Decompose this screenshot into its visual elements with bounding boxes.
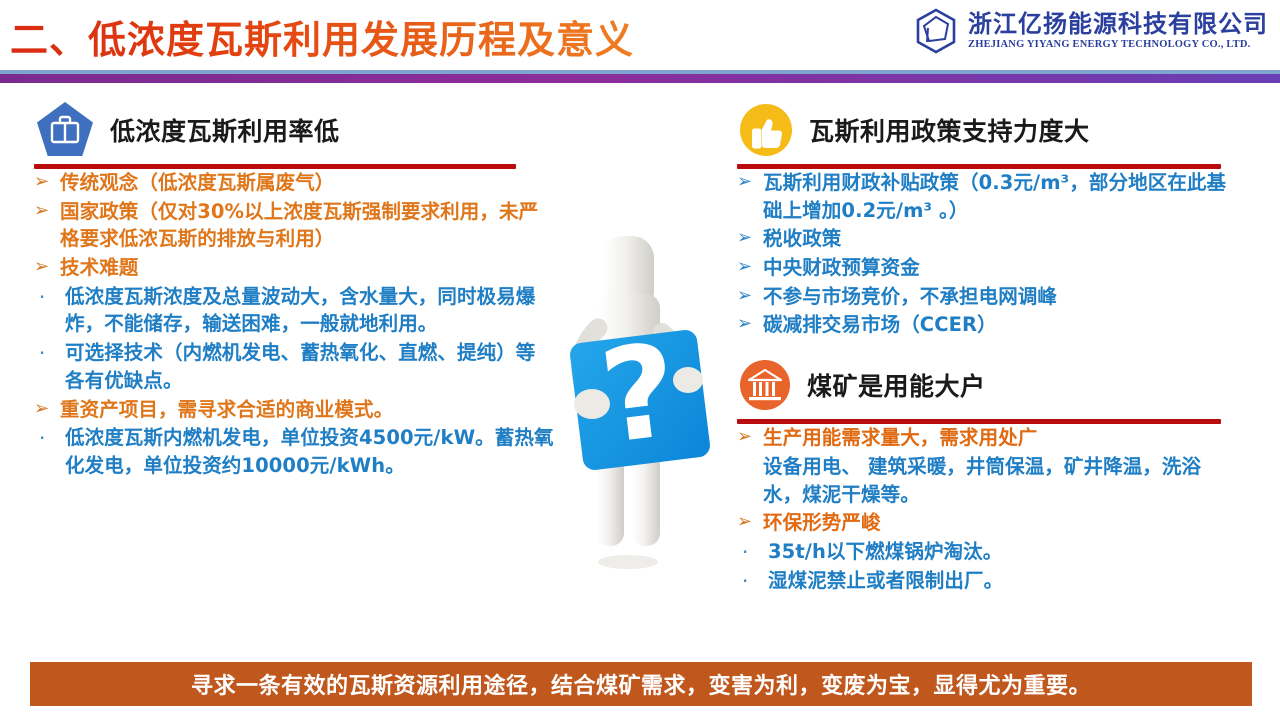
arrow-bullet-icon: ➢ (737, 169, 763, 195)
list-item-text: 低浓度瓦斯内燃机发电，单位投资4500元/kW。蓄热氧化发电，单位投资约1000… (65, 424, 554, 479)
list-item: ➢ 环保形势严峻 (737, 509, 1237, 537)
dot-bullet-icon: · (34, 424, 65, 452)
dot-bullet-icon: · (34, 339, 65, 367)
list-item: ➢ 重资产项目，需寻求合适的商业模式。 (34, 396, 554, 424)
left-bullet-list: ➢ 传统观念（低浓度瓦斯属废气） ➢ 国家政策（仅对30%以上浓度瓦斯强制要求利… (34, 169, 554, 480)
company-name-en: ZHEJIANG YIYANG ENERGY TECHNOLOGY CO., L… (968, 40, 1268, 51)
list-item-text: 环保形势严峻 (763, 509, 881, 537)
left-section-header: 低浓度瓦斯利用率低 (34, 98, 554, 162)
list-item: ➢ 中央财政预算资金 (737, 254, 1237, 282)
right-section-2-header: 煤矿是用能大户 (737, 353, 1237, 417)
right-column: 瓦斯利用政策支持力度大 ➢ 瓦斯利用财政补贴政策（0.3元/m³，部分地区在此基… (737, 98, 1237, 597)
footer-banner-text: 寻求一条有效的瓦斯资源利用途径，结合煤矿需求，变害为利，变废为宝，显得尤为重要。 (191, 668, 1091, 700)
right-bullet-list-1: ➢ 瓦斯利用财政补贴政策（0.3元/m³，部分地区在此基础上增加0.2元/m³ … (737, 169, 1237, 339)
right-bullet-list-2: ➢ 生产用能需求量大，需求用处广 设备用电、 建筑采暖，井筒保温，矿井降温，洗浴… (737, 424, 1237, 596)
thumbs-up-icon (737, 101, 795, 159)
arrow-bullet-icon: ➢ (737, 311, 763, 337)
slide: 二、低浓度瓦斯利用发展历程及意义 浙江亿扬能源科技有限公司 ZHEJIANG Y… (0, 0, 1280, 720)
bank-building-icon (737, 357, 793, 413)
arrow-bullet-icon: ➢ (737, 509, 763, 535)
list-item: ➢ 生产用能需求量大，需求用处广 (737, 424, 1237, 452)
arrow-bullet-icon: ➢ (737, 225, 763, 251)
dot-bullet-icon: · (34, 283, 65, 311)
list-item: · 可选择技术（内燃机发电、蓄热氧化、直燃、提纯）等各有优缺点。 (34, 339, 554, 394)
list-item-text: 可选择技术（内燃机发电、蓄热氧化、直燃、提纯）等各有优缺点。 (65, 339, 554, 394)
right-section-1-header: 瓦斯利用政策支持力度大 (737, 98, 1237, 162)
right-section-2-title: 煤矿是用能大户 (807, 367, 986, 403)
left-column: 低浓度瓦斯利用率低 ➢ 传统观念（低浓度瓦斯属废气） ➢ 国家政策（仅对30%以… (34, 98, 554, 481)
list-item-text: 中央财政预算资金 (763, 254, 920, 282)
arrow-bullet-icon: ➢ (737, 283, 763, 309)
list-item-text: 税收政策 (763, 225, 841, 253)
list-item: ➢ 瓦斯利用财政补贴政策（0.3元/m³，部分地区在此基础上增加0.2元/m³ … (737, 169, 1237, 224)
company-name-cn: 浙江亿扬能源科技有限公司 (968, 12, 1268, 36)
dot-bullet-icon: · (737, 538, 768, 566)
dot-bullet-icon: · (737, 567, 768, 595)
briefcase-pentagon-icon (34, 99, 96, 161)
right-section-1-title: 瓦斯利用政策支持力度大 (809, 112, 1090, 148)
arrow-bullet-icon: ➢ (737, 254, 763, 280)
list-item-text: 重资产项目，需寻求合适的商业模式。 (60, 396, 393, 424)
list-item-text: 国家政策（仅对30%以上浓度瓦斯强制要求利用，未严格要求低浓瓦斯的排放与利用） (60, 198, 554, 253)
list-item: ➢ 国家政策（仅对30%以上浓度瓦斯强制要求利用，未严格要求低浓瓦斯的排放与利用… (34, 198, 554, 253)
list-item: ➢ 碳减排交易市场（CCER） (737, 311, 1237, 339)
list-item-text: 瓦斯利用财政补贴政策（0.3元/m³，部分地区在此基础上增加0.2元/m³ 。） (763, 169, 1237, 224)
list-item: · 35t/h以下燃煤锅炉淘汰。 (737, 538, 1237, 566)
list-item-text: 技术难题 (60, 254, 138, 282)
list-item-text: 35t/h以下燃煤锅炉淘汰。 (768, 538, 1002, 566)
footer-banner: 寻求一条有效的瓦斯资源利用途径，结合煤矿需求，变害为利，变废为宝，显得尤为重要。 (30, 662, 1252, 706)
arrow-bullet-icon: ➢ (34, 169, 60, 195)
slide-header: 二、低浓度瓦斯利用发展历程及意义 浙江亿扬能源科技有限公司 ZHEJIANG Y… (0, 0, 1280, 86)
list-item-text: 生产用能需求量大，需求用处广 (763, 424, 1037, 452)
list-item: ➢ 税收政策 (737, 225, 1237, 253)
left-section-title: 低浓度瓦斯利用率低 (110, 112, 340, 148)
list-item: ➢ 技术难题 (34, 254, 554, 282)
page-title: 二、低浓度瓦斯利用发展历程及意义 (10, 9, 634, 64)
list-item: ➢ 传统观念（低浓度瓦斯属废气） (34, 169, 554, 197)
list-item-text: 碳减排交易市场（CCER） (763, 311, 997, 339)
hexagon-logo-icon (914, 8, 958, 54)
arrow-bullet-icon: ➢ (34, 198, 60, 224)
list-item-text: 传统观念（低浓度瓦斯属废气） (60, 169, 334, 197)
arrow-bullet-icon: ➢ (737, 424, 763, 450)
company-logo: 浙江亿扬能源科技有限公司 ZHEJIANG YIYANG ENERGY TECH… (914, 8, 1268, 54)
list-item: 设备用电、 建筑采暖，井筒保温，矿井降温，洗浴水，煤泥干燥等。 (737, 453, 1237, 508)
list-item-text: 湿煤泥禁止或者限制出厂。 (768, 567, 1003, 595)
arrow-bullet-icon: ➢ (34, 254, 60, 280)
header-divider-purple (0, 74, 1280, 83)
arrow-bullet-icon: ➢ (34, 396, 60, 422)
list-item-text: 设备用电、 建筑采暖，井筒保温，矿井降温，洗浴水，煤泥干燥等。 (763, 453, 1237, 508)
list-item-text: 低浓度瓦斯浓度及总量波动大，含水量大，同时极易爆炸，不能储存，输送困难，一般就地… (65, 283, 554, 338)
list-item: · 低浓度瓦斯浓度及总量波动大，含水量大，同时极易爆炸，不能储存，输送困难，一般… (34, 283, 554, 338)
list-item: · 湿煤泥禁止或者限制出厂。 (737, 567, 1237, 595)
person-holding-question-sign-illustration: ? (540, 232, 740, 582)
list-item-text: 不参与市场竞价，不承担电网调峰 (763, 283, 1057, 311)
list-item: ➢ 不参与市场竞价，不承担电网调峰 (737, 283, 1237, 311)
list-item: · 低浓度瓦斯内燃机发电，单位投资4500元/kW。蓄热氧化发电，单位投资约10… (34, 424, 554, 479)
